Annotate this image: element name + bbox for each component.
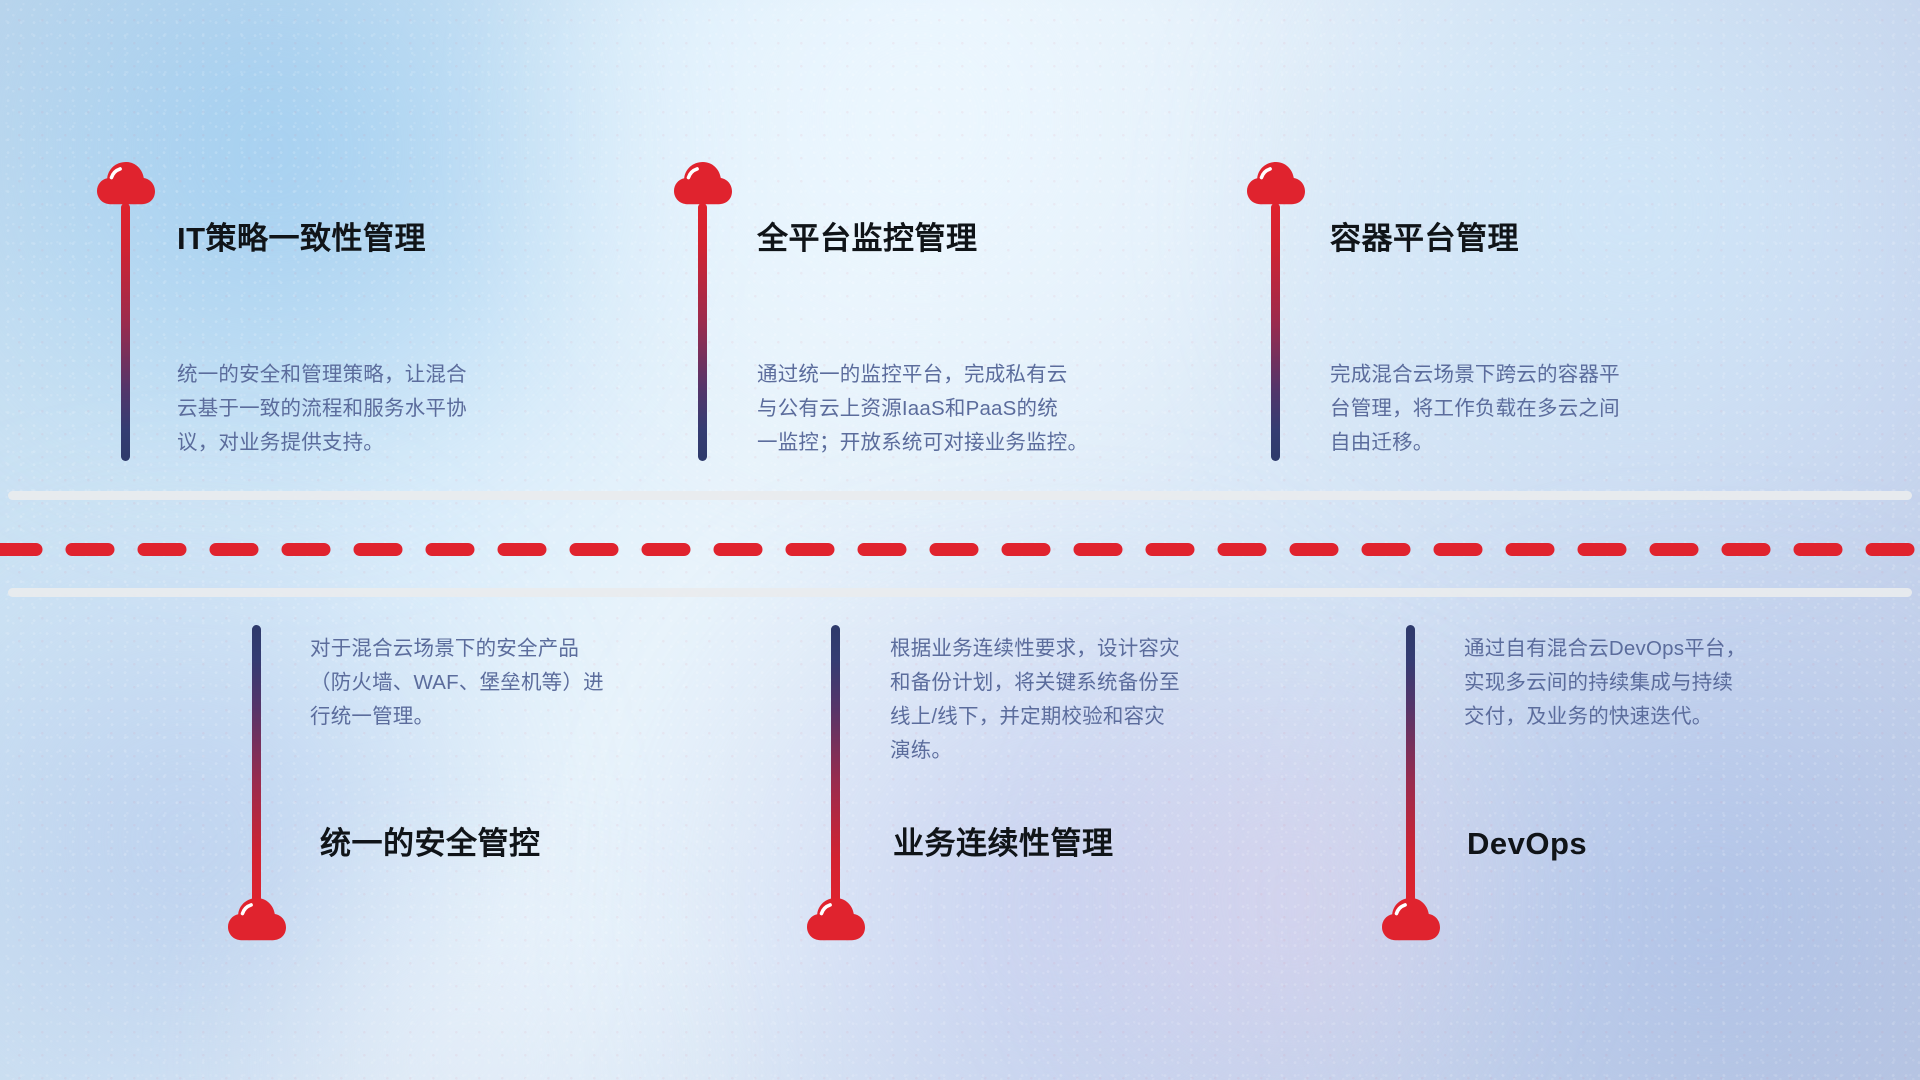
infographic-canvas: IT策略一致性管理 统一的安全和管理策略，让混合 云基于一致的流程和服务水平协 … xyxy=(0,0,1920,1080)
item-heading: 容器平台管理 xyxy=(1330,220,1519,257)
item-heading: 全平台监控管理 xyxy=(757,220,978,257)
cloud-icon xyxy=(805,896,867,946)
item-description: 根据业务连续性要求，设计容灾 和备份计划，将关键系统备份至 线上/线下，并定期校… xyxy=(890,632,1330,768)
item-description: 完成混合云场景下跨云的容器平 台管理，将工作负载在多云之间 自由迁移。 xyxy=(1330,358,1780,460)
item-heading: 统一的安全管控 xyxy=(320,825,541,862)
item-heading: DevOps xyxy=(1467,825,1587,862)
cloud-icon xyxy=(1380,896,1442,946)
connector-bar xyxy=(1271,203,1280,461)
background-vignette xyxy=(0,0,1920,1080)
item-heading: 业务连续性管理 xyxy=(893,825,1114,862)
divider-rule-bottom xyxy=(8,588,1912,597)
item-heading: IT策略一致性管理 xyxy=(177,220,426,257)
connector-bar xyxy=(831,625,840,910)
connector-bar xyxy=(1406,625,1415,910)
connector-bar xyxy=(698,203,707,461)
item-description: 通过自有混合云DevOps平台， 实现多云间的持续集成与持续 交付，及业务的快速… xyxy=(1464,632,1894,734)
divider-rule-top xyxy=(8,491,1912,500)
item-description: 统一的安全和管理策略，让混合 云基于一致的流程和服务水平协 议，对业务提供支持。 xyxy=(177,358,617,460)
item-description: 通过统一的监控平台，完成私有云 与公有云上资源IaaS和PaaS的统 一监控；开… xyxy=(757,358,1217,460)
connector-bar xyxy=(121,203,130,461)
item-description: 对于混合云场景下的安全产品 （防火墙、WAF、堡垒机等）进 行统一管理。 xyxy=(310,632,740,734)
connector-bar xyxy=(252,625,261,910)
cloud-icon xyxy=(226,896,288,946)
divider-dashed-red xyxy=(0,543,1920,556)
